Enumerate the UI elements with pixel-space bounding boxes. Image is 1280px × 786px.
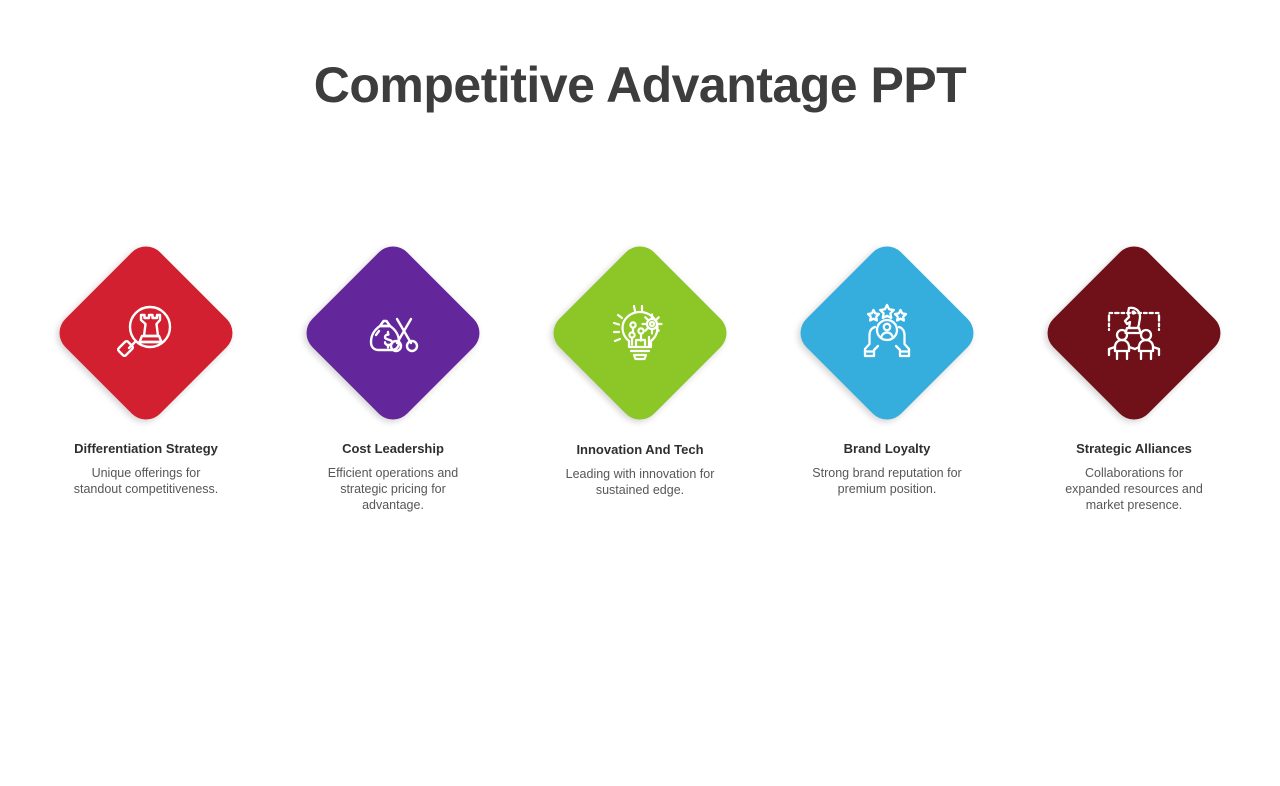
- card-title: Innovation And Tech: [564, 441, 716, 459]
- chess-knight-partners-icon: [1098, 297, 1170, 369]
- card-text-block: Brand Loyalty Strong brand reputation fo…: [811, 440, 963, 497]
- card-description: Strong brand reputation for premium posi…: [811, 465, 963, 498]
- chess-rook-magnifier-icon: [110, 297, 182, 369]
- page-title: Competitive Advantage PPT: [0, 58, 1280, 113]
- hands-person-stars-icon: [851, 297, 923, 369]
- card-description: Leading with innovation for sustained ed…: [564, 466, 716, 499]
- card-description: Unique offerings for standout competitiv…: [70, 465, 222, 498]
- card-description: Efficient operations and strategic prici…: [317, 465, 469, 514]
- card-differentiation-strategy[interactable]: Differentiation Strategy Unique offering…: [50, 228, 242, 568]
- card-brand-loyalty[interactable]: Brand Loyalty Strong brand reputation fo…: [791, 228, 983, 568]
- card-text-block: Cost Leadership Efficient operations and…: [317, 440, 469, 514]
- card-text-block: Differentiation Strategy Unique offering…: [70, 440, 222, 497]
- money-bag-scissors-icon: [357, 297, 429, 369]
- card-title: Brand Loyalty: [811, 440, 963, 458]
- card-title: Differentiation Strategy: [70, 440, 222, 458]
- lightbulb-gear-circuit-icon: [604, 297, 676, 369]
- card-description: Collaborations for expanded resources an…: [1058, 465, 1210, 514]
- card-text-block: Innovation And Tech Leading with innovat…: [564, 441, 716, 498]
- card-cost-leadership[interactable]: Cost Leadership Efficient operations and…: [297, 228, 489, 568]
- card-innovation-and-tech[interactable]: Innovation And Tech Leading with innovat…: [544, 228, 736, 568]
- card-text-block: Strategic Alliances Collaborations for e…: [1058, 440, 1210, 514]
- card-title: Cost Leadership: [317, 440, 469, 458]
- card-strategic-alliances[interactable]: Strategic Alliances Collaborations for e…: [1038, 228, 1230, 568]
- advantage-cards-row: Differentiation Strategy Unique offering…: [50, 228, 1230, 568]
- card-title: Strategic Alliances: [1058, 440, 1210, 458]
